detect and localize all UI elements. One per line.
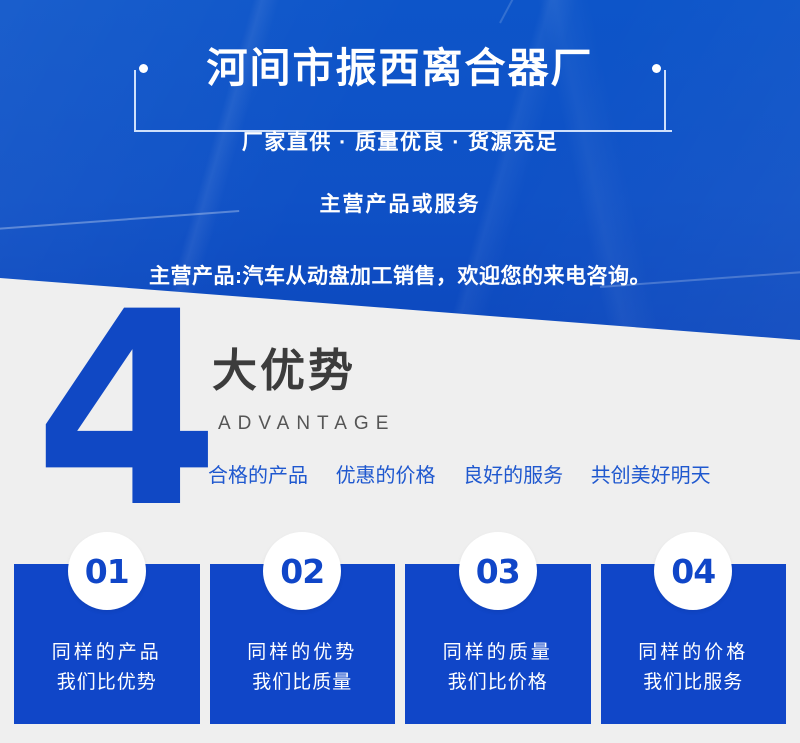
card-line-primary: 同样的优势: [247, 638, 357, 668]
advantage-slogan: 良好的服务: [463, 465, 563, 487]
card-line-secondary: 我们比服务: [638, 668, 748, 698]
card-number-badge: 01: [68, 532, 146, 610]
card-number-badge: 03: [459, 532, 537, 610]
company-tagline: 厂家直供 · 质量优良 · 货源充足: [0, 128, 800, 158]
advantage-card-list: 01 同样的产品 我们比优势 02 同样的优势 我们比质量 03 同样的质量 我…: [14, 564, 786, 724]
card-line-primary: 同样的价格: [638, 638, 748, 668]
card-text: 同样的优势 我们比质量: [247, 638, 357, 698]
card-text: 同样的产品 我们比优势: [52, 638, 162, 698]
card-line-primary: 同样的质量: [443, 638, 553, 668]
promo-banner: 河间市振西离合器厂 厂家直供 · 质量优良 · 货源充足 主营产品或服务 主营产…: [0, 0, 800, 743]
advantage-subtitle: ADVANTAGE: [218, 412, 395, 436]
card-line-primary: 同样的产品: [52, 638, 162, 668]
advantage-slogan: 优惠的价格: [336, 465, 436, 487]
card-line-secondary: 我们比优势: [52, 668, 162, 698]
advantage-slogan: 共创美好明天: [591, 465, 711, 487]
card-number-badge: 02: [263, 532, 341, 610]
section-label-main-products: 主营产品或服务: [0, 190, 800, 220]
advantage-slogan-list: 合格的产品 优惠的价格 良好的服务 共创美好明天: [208, 462, 711, 490]
card-line-secondary: 我们比价格: [443, 668, 553, 698]
advantage-card: 04 同样的价格 我们比服务: [601, 564, 787, 724]
card-text: 同样的质量 我们比价格: [443, 638, 553, 698]
advantage-title: 大优势: [212, 345, 356, 397]
advantage-card: 02 同样的优势 我们比质量: [210, 564, 396, 724]
advantage-slogan: 合格的产品: [208, 465, 308, 487]
advantage-card: 03 同样的质量 我们比价格: [405, 564, 591, 724]
card-text: 同样的价格 我们比服务: [638, 638, 748, 698]
card-number-badge: 04: [654, 532, 732, 610]
advantage-numeral: 4: [24, 286, 224, 536]
company-title: 河间市振西离合器厂: [0, 42, 800, 94]
card-line-secondary: 我们比质量: [247, 668, 357, 698]
advantage-card: 01 同样的产品 我们比优势: [14, 564, 200, 724]
